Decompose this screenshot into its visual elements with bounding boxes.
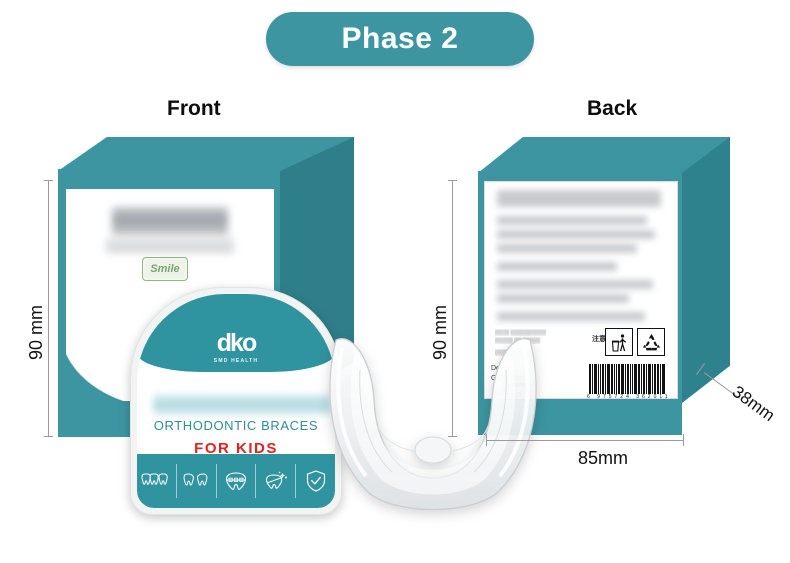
back-height-label: 90 mm xyxy=(430,305,451,360)
barcode-digits: 6 975724 362011 xyxy=(587,394,671,399)
aligned-teeth-icon xyxy=(177,464,217,498)
brand-logo: dko xyxy=(217,331,255,356)
dimension-tick xyxy=(44,436,53,437)
phase-badge-label: Phase 2 xyxy=(342,22,459,56)
blister-header: dko SMD HEALTH xyxy=(137,294,335,372)
box-top-face xyxy=(58,137,280,171)
recycle-icon xyxy=(637,328,665,356)
blister-package: dko SMD HEALTH ORTHODONTIC BRACES FOR KI… xyxy=(130,287,342,515)
sparkling-tooth-icon xyxy=(256,464,296,498)
back-view-label: Back xyxy=(587,97,637,121)
dimension-tick xyxy=(486,434,487,446)
tooth-braces-icon xyxy=(217,464,257,498)
blister-shell: dko SMD HEALTH ORTHODONTIC BRACES FOR KI… xyxy=(130,287,342,515)
dimension-tick xyxy=(448,436,457,437)
blurred-line xyxy=(497,312,645,321)
blurred-line xyxy=(497,244,637,253)
depth-label: 38mm xyxy=(728,382,778,426)
width-label: 85mm xyxy=(578,448,628,469)
front-view-label: Front xyxy=(167,97,221,121)
feature-icon-bar xyxy=(137,454,335,508)
crowded-teeth-icon xyxy=(137,464,177,498)
front-height-label: 90 mm xyxy=(26,305,47,360)
blurred-heading xyxy=(497,190,661,207)
dimension-tick xyxy=(683,434,684,446)
phase-badge: Phase 2 xyxy=(266,12,534,66)
blurred-subtitle-text xyxy=(106,237,234,253)
blister-card: dko SMD HEALTH ORTHODONTIC BRACES FOR KI… xyxy=(137,294,335,508)
blurred-line xyxy=(497,262,617,271)
do-not-litter-icon xyxy=(605,328,633,356)
brand-logo-subtitle: SMD HEALTH xyxy=(214,358,258,364)
blurred-line xyxy=(497,230,655,239)
blurred-product-name xyxy=(153,394,331,416)
dimension-tick xyxy=(44,180,53,181)
back-box-side-face xyxy=(682,137,730,403)
blurred-brand-text xyxy=(112,207,228,237)
dental-trainer-appliance xyxy=(318,330,548,530)
blurred-line xyxy=(497,216,647,225)
dimension-tick xyxy=(448,180,457,181)
product-title: ORTHODONTIC BRACES xyxy=(137,418,335,433)
product-image-canvas: Phase 2 Front Back Smile 儿童 ORTHODONTIC xyxy=(0,0,790,563)
back-box-top-face xyxy=(478,137,682,173)
smile-badge: Smile xyxy=(142,257,188,281)
barcode xyxy=(589,364,673,394)
back-height-dimension-line xyxy=(452,180,453,436)
blurred-line xyxy=(497,294,629,303)
width-dimension-line xyxy=(486,440,684,441)
blurred-line xyxy=(497,280,653,289)
front-height-dimension-line xyxy=(48,180,49,436)
